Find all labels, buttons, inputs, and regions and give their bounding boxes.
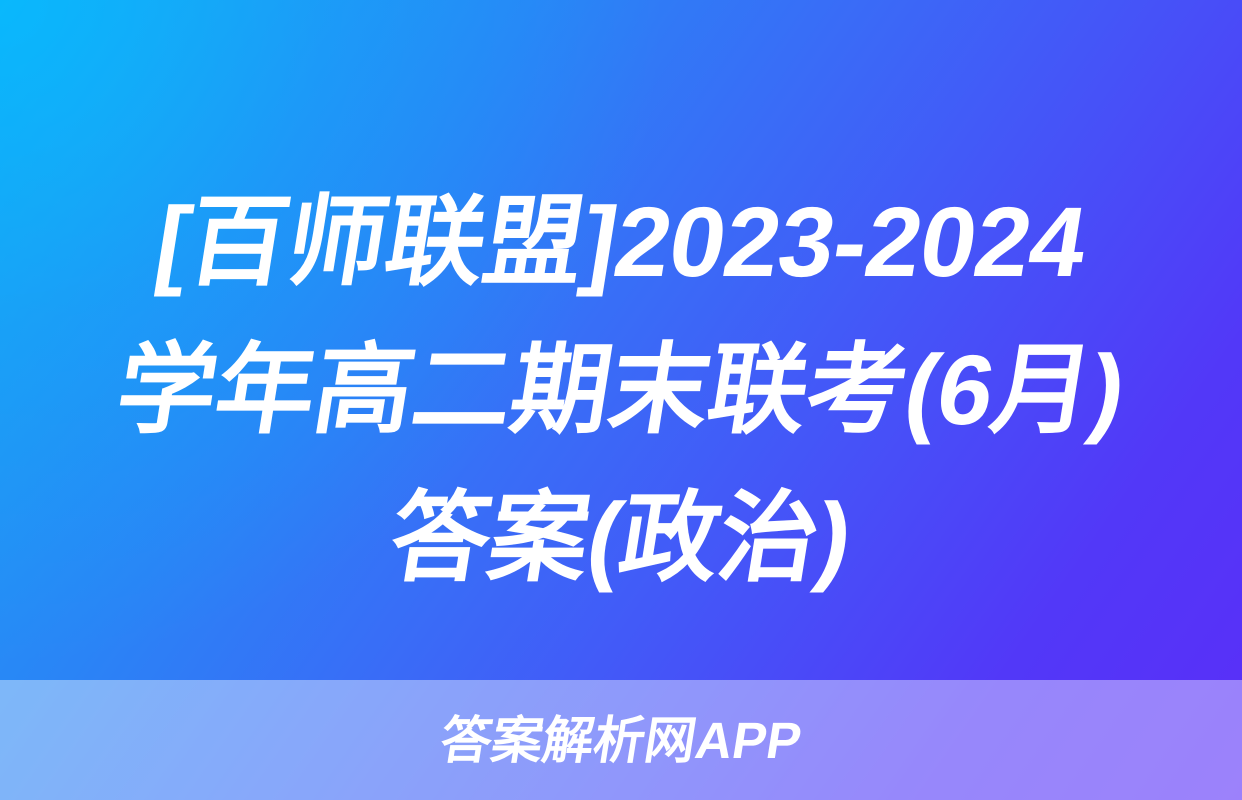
title-line-3: 答案(政治) [12, 464, 1229, 612]
app-brand-label: 答案解析网APP [437, 715, 805, 766]
answer-cover-poster: [百师联盟]2023-2024 学年高二期末联考(6月) 答案(政治) 答案解析… [0, 0, 1242, 800]
app-brand-banner: 答案解析网APP [0, 680, 1242, 800]
title-line-1: [百师联盟]2023-2024 [12, 168, 1229, 316]
page-title: [百师联盟]2023-2024 学年高二期末联考(6月) 答案(政治) [0, 168, 1242, 612]
title-line-2: 学年高二期末联考(6月) [12, 316, 1229, 464]
